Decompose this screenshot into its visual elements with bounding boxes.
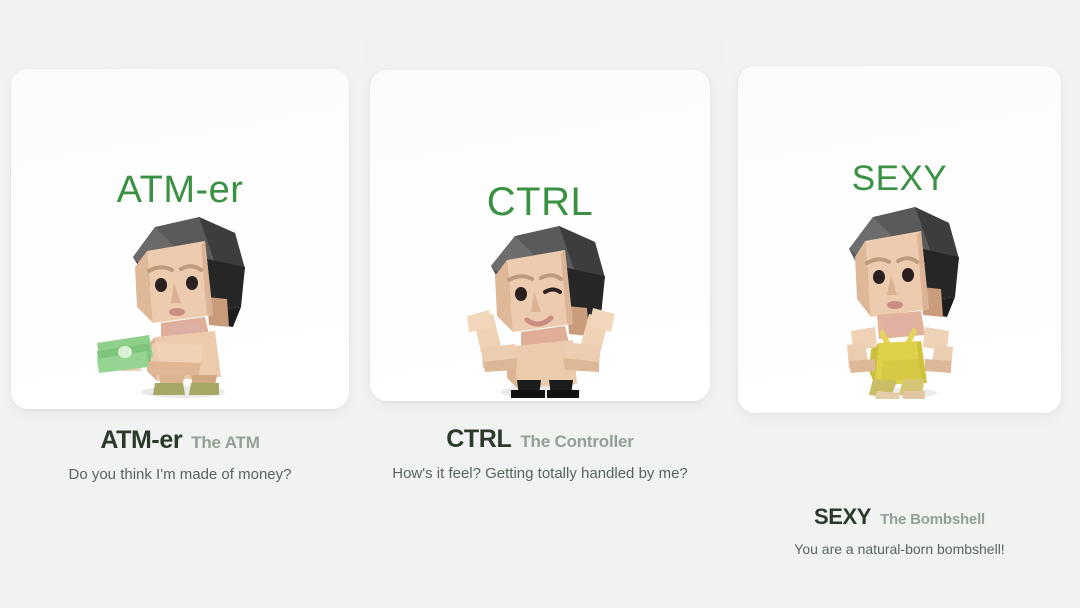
character-role-atm-er: The ATM bbox=[191, 433, 259, 452]
character-holding-money-icon bbox=[95, 211, 265, 401]
poster-title-ctrl: CTRL bbox=[370, 180, 710, 225]
personality-card-sexy[interactable]: SEXY bbox=[738, 66, 1061, 413]
personality-card-ctrl[interactable]: CTRL bbox=[370, 70, 710, 401]
character-name-sexy: SEXY bbox=[814, 504, 871, 529]
figure-atm-er bbox=[11, 211, 349, 401]
character-quote-ctrl: How's it feel? Getting totally handled b… bbox=[370, 465, 710, 482]
name-role-row-ctrl: CTRLThe Controller bbox=[370, 425, 710, 454]
poster-title-sexy: SEXY bbox=[738, 159, 1061, 199]
personality-card-grid: ATM-er bbox=[0, 0, 1080, 608]
card-surface-ctrl[interactable]: CTRL bbox=[370, 70, 710, 401]
card-art-area-sexy: SEXY bbox=[738, 66, 1061, 413]
figure-ctrl bbox=[370, 222, 710, 400]
character-quote-atm-er: Do you think I'm made of money? bbox=[11, 466, 349, 483]
character-role-sexy: The Bombshell bbox=[880, 511, 985, 528]
character-quote-sexy: You are a natural-born bombshell! bbox=[738, 541, 1061, 557]
poster-title-atm-er: ATM-er bbox=[11, 169, 349, 212]
card-surface-atm-er[interactable]: ATM-er bbox=[11, 69, 349, 409]
card-meta-atm-er: ATM-erThe ATM Do you think I'm made of m… bbox=[11, 426, 349, 483]
character-name-ctrl: CTRL bbox=[446, 425, 511, 453]
personality-card-atm-er[interactable]: ATM-er bbox=[11, 69, 349, 409]
card-surface-sexy[interactable]: SEXY bbox=[738, 66, 1061, 413]
character-posing-swimsuit-icon bbox=[825, 201, 975, 401]
figure-sexy bbox=[738, 201, 1061, 401]
character-flexing-muscles-icon bbox=[453, 222, 628, 400]
character-name-atm-er: ATM-er bbox=[100, 426, 182, 454]
card-art-area-ctrl: CTRL bbox=[370, 70, 710, 401]
card-meta-sexy: SEXYThe Bombshell You are a natural-born… bbox=[738, 504, 1061, 557]
card-meta-ctrl: CTRLThe Controller How's it feel? Gettin… bbox=[370, 425, 710, 482]
card-art-area-atm-er: ATM-er bbox=[11, 69, 349, 409]
character-role-ctrl: The Controller bbox=[520, 432, 633, 451]
name-role-row-atm-er: ATM-erThe ATM bbox=[11, 426, 349, 455]
name-role-row-sexy: SEXYThe Bombshell bbox=[738, 504, 1061, 530]
